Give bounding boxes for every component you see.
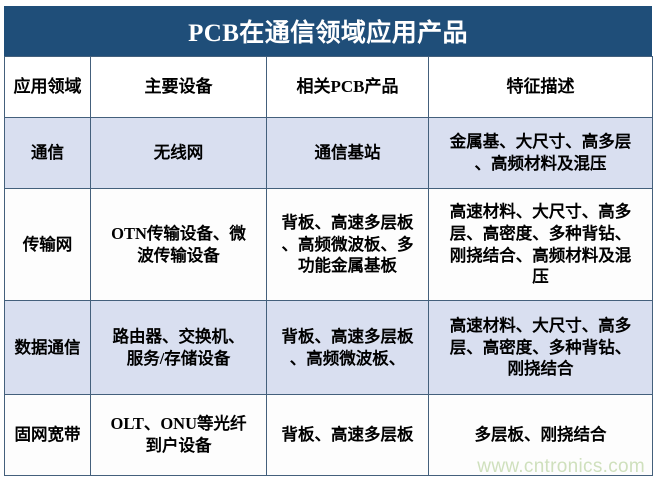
cell-application-area: 传输网 — [5, 189, 91, 301]
cell-main-equipment: 路由器、交换机、 服务/存储设备 — [91, 301, 267, 395]
cell-text: 无线网 — [95, 142, 262, 164]
cell-text: 背板、高速多层板 — [271, 424, 424, 446]
cell-text: 通信 — [9, 142, 86, 164]
cell-text: 固网宽带 — [9, 424, 86, 446]
pcb-application-table: 应用领域 主要设备 相关PCB产品 特征描述 通信 — [4, 56, 653, 476]
cell-feature-description: 多层板、刚挠结合 — [429, 395, 653, 476]
cell-related-pcb-products: 背板、高速多层板 、高频微波板、多 功能金属基板 — [267, 189, 429, 301]
table-title: PCB在通信领域应用产品 — [4, 6, 652, 56]
cell-related-pcb-products: 通信基站 — [267, 118, 429, 189]
column-header-related-pcb-products: 相关PCB产品 — [267, 57, 429, 118]
cell-main-equipment: OTN传输设备、微 波传输设备 — [91, 189, 267, 301]
cell-related-pcb-products: 背板、高速多层板 、高频微波板、 — [267, 301, 429, 395]
table-row: 传输网 OTN传输设备、微 波传输设备 背板、高速多层板 、高频微波板、多 功能… — [5, 189, 653, 301]
cell-feature-description: 高速材料、大尺寸、高多 层、高密度、多种背钻、 刚挠结合、高频材料及混 压 — [429, 189, 653, 301]
cell-text: 背板、高速多层板 、高频微波板、 — [271, 326, 424, 370]
header-text: 相关PCB产品 — [271, 76, 424, 98]
cell-text: 多层板、刚挠结合 — [433, 424, 648, 446]
cell-text: 高速材料、大尺寸、高多 层、高密度、多种背钻、 刚挠结合 — [433, 315, 648, 380]
cell-feature-description: 金属基、大尺寸、高多层 、高频材料及混压 — [429, 118, 653, 189]
header-text: 特征描述 — [433, 76, 648, 98]
header-text: 主要设备 — [95, 76, 262, 98]
pcb-table-container: PCB在通信领域应用产品 应用领域 主要设备 相关PCB产品 — [4, 6, 652, 476]
screenshot-page: PCB在通信领域应用产品 应用领域 主要设备 相关PCB产品 — [0, 0, 659, 490]
table-row: 通信 无线网 通信基站 金属基、大尺寸、高多层 、高频材料及混压 — [5, 118, 653, 189]
cell-main-equipment: 无线网 — [91, 118, 267, 189]
cell-text: 路由器、交换机、 服务/存储设备 — [95, 326, 262, 370]
cell-application-area: 固网宽带 — [5, 395, 91, 476]
cell-text: 背板、高速多层板 、高频微波板、多 功能金属基板 — [271, 212, 424, 277]
column-header-feature-description: 特征描述 — [429, 57, 653, 118]
cell-text: OTN传输设备、微 波传输设备 — [95, 223, 262, 267]
header-text: 应用领域 — [9, 76, 86, 98]
cell-text: 传输网 — [9, 234, 86, 256]
cell-feature-description: 高速材料、大尺寸、高多 层、高密度、多种背钻、 刚挠结合 — [429, 301, 653, 395]
table-header-row: 应用领域 主要设备 相关PCB产品 特征描述 — [5, 57, 653, 118]
cell-text: 金属基、大尺寸、高多层 、高频材料及混压 — [433, 131, 648, 175]
cell-application-area: 数据通信 — [5, 301, 91, 395]
cell-text: 数据通信 — [9, 337, 86, 359]
cell-related-pcb-products: 背板、高速多层板 — [267, 395, 429, 476]
column-header-application-area: 应用领域 — [5, 57, 91, 118]
cell-text: 通信基站 — [271, 142, 424, 164]
column-header-main-equipment: 主要设备 — [91, 57, 267, 118]
cell-application-area: 通信 — [5, 118, 91, 189]
cell-text: OLT、ONU等光纤 到户设备 — [95, 413, 262, 457]
cell-text: 高速材料、大尺寸、高多 层、高密度、多种背钻、 刚挠结合、高频材料及混 压 — [433, 201, 648, 288]
table-row: 固网宽带 OLT、ONU等光纤 到户设备 背板、高速多层板 多层板、刚挠结合 — [5, 395, 653, 476]
table-row: 数据通信 路由器、交换机、 服务/存储设备 背板、高速多层板 、高频微波板、 高… — [5, 301, 653, 395]
cell-main-equipment: OLT、ONU等光纤 到户设备 — [91, 395, 267, 476]
